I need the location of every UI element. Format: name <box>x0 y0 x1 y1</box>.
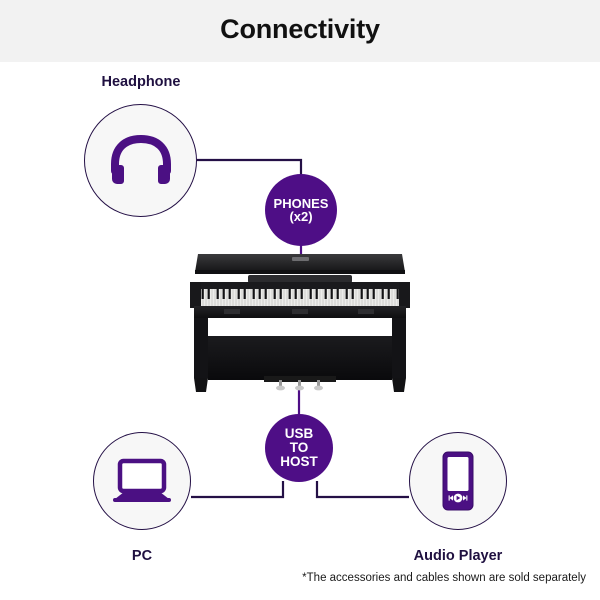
badge-phones-x2[interactable]: PHONES (x2) <box>265 174 337 246</box>
headphone-icon <box>108 135 174 187</box>
badge-phones-line1: PHONES <box>274 197 329 210</box>
badge-usb-to-host[interactable]: USB TO HOST <box>265 414 333 482</box>
footnote-disclaimer: *The accessories and cables shown are so… <box>302 572 586 584</box>
node-audio-player[interactable] <box>409 432 507 530</box>
badge-usb-line1: USB <box>285 427 314 441</box>
digital-piano-illustration <box>186 248 414 400</box>
laptop-icon <box>112 458 172 504</box>
node-headphone[interactable] <box>84 104 197 217</box>
badge-phones-line2: (x2) <box>289 210 312 223</box>
cable-headphone-to-phones <box>197 160 301 178</box>
portable-media-player-icon <box>440 450 476 512</box>
cable-usb-to-audio <box>317 481 409 497</box>
label-headphone: Headphone <box>60 74 222 90</box>
node-pc[interactable] <box>93 432 191 530</box>
label-pc: PC <box>93 548 191 564</box>
cable-usb-to-pc <box>191 481 283 497</box>
label-audio-player: Audio Player <box>389 548 527 564</box>
badge-usb-line2: TO <box>290 441 309 455</box>
connectivity-diagram: Connectivity <box>0 0 600 600</box>
badge-usb-line3: HOST <box>280 455 318 469</box>
